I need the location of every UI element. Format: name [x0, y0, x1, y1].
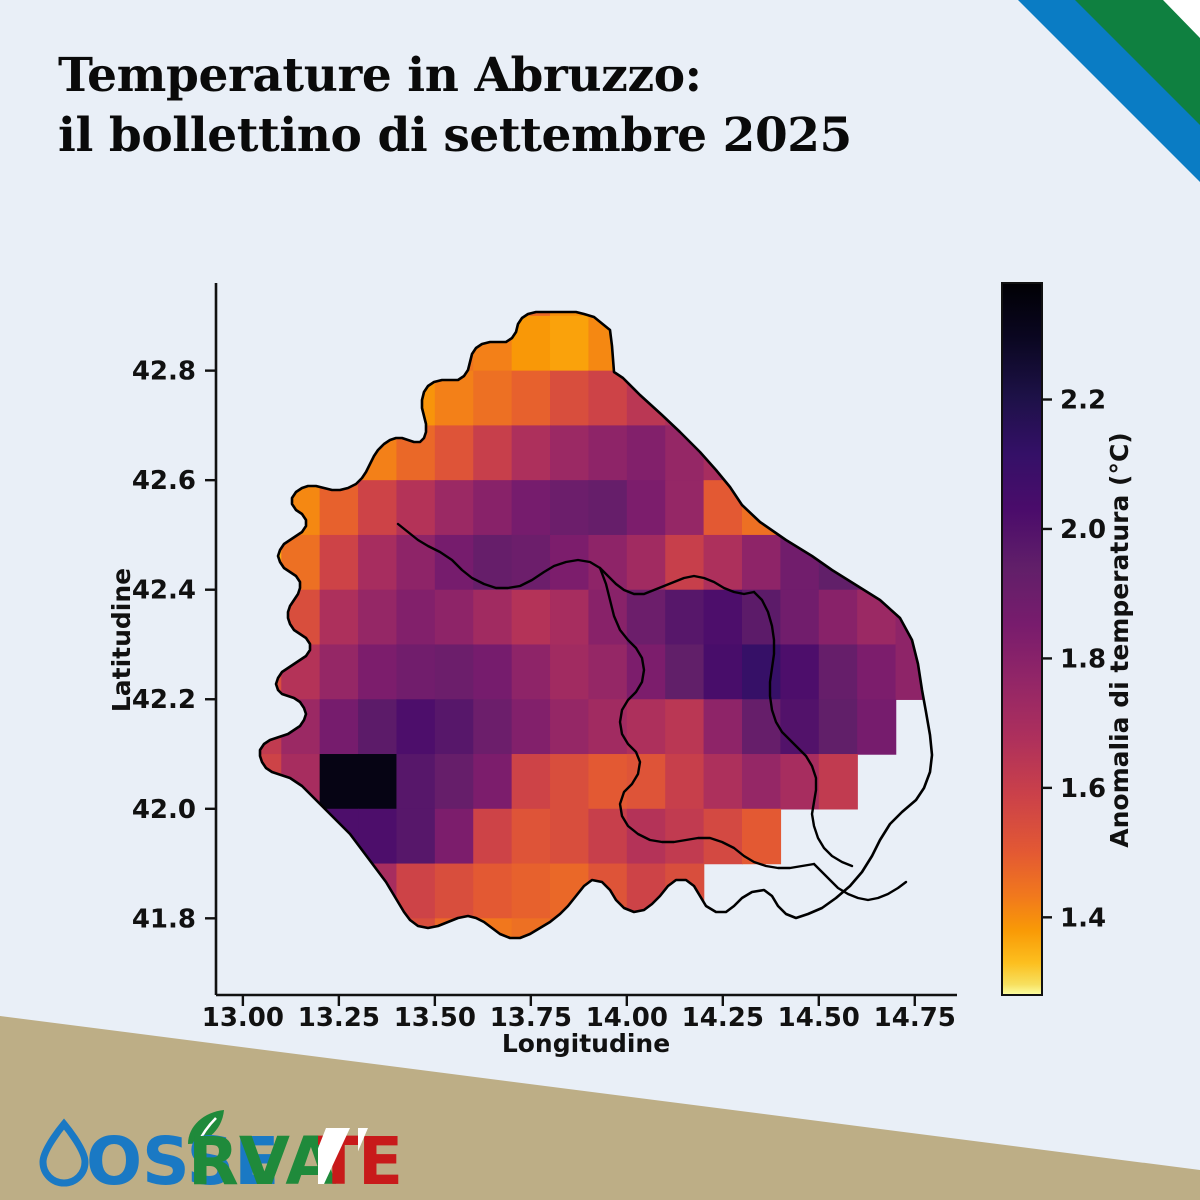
- heatmap-cell: [550, 425, 589, 480]
- heatmap-cell: [588, 644, 627, 699]
- heatmap-cell: [473, 590, 512, 645]
- heatmap-cell: [435, 480, 474, 535]
- heatmap-cell: [742, 535, 781, 590]
- heatmap-cell: [358, 644, 397, 699]
- heatmap-cell: [358, 699, 397, 754]
- heatmap-cell: [550, 809, 589, 864]
- heatmap-cell: [588, 425, 627, 480]
- heatmap-cell: [435, 644, 474, 699]
- heatmap-cell: [665, 590, 704, 645]
- heatmap-cell: [665, 754, 704, 809]
- heatmap-cell: [396, 809, 435, 864]
- x-axis-tick-label: 13.25: [298, 1003, 380, 1033]
- heatmap-cell: [512, 425, 551, 480]
- heatmap-cell: [320, 590, 359, 645]
- heatmap-cell: [819, 699, 858, 754]
- x-axis-title: Longitudine: [502, 1029, 670, 1058]
- heatmap-cell: [780, 644, 819, 699]
- heatmap-cell: [627, 535, 666, 590]
- x-axis-ticks-group: 13.0013.2513.5013.7514.0014.2514.5014.75: [202, 995, 956, 1033]
- heatmap-cell: [435, 699, 474, 754]
- heatmap-cell: [358, 590, 397, 645]
- heatmap-cell: [627, 644, 666, 699]
- heatmap-cell: [435, 590, 474, 645]
- heatmap-cell: [857, 699, 896, 754]
- heatmap-cell: [627, 480, 666, 535]
- x-axis-tick-label: 14.25: [682, 1003, 764, 1033]
- colorbar-tick-label: 1.4: [1060, 903, 1106, 933]
- y-axis-ticks-group: 41.842.042.242.442.642.8: [132, 357, 216, 935]
- heatmap-cell: [435, 754, 474, 809]
- y-axis-tick-label: 42.8: [132, 357, 196, 387]
- colorbar-title: Anomalia di temperatura (°C): [1105, 432, 1134, 847]
- heatmap-cell: [819, 754, 858, 809]
- heatmap-cell: [512, 644, 551, 699]
- heatmap-cell: [512, 864, 551, 919]
- heatmap-cell: [819, 590, 858, 645]
- y-axis-tick-label: 41.8: [132, 904, 196, 934]
- heatmap-cell: [512, 371, 551, 426]
- heatmap-cell: [396, 535, 435, 590]
- heatmap-cell: [473, 754, 512, 809]
- heatmap-cell: [819, 644, 858, 699]
- heatmap-cell: [320, 699, 359, 754]
- heatmap-cell: [550, 316, 589, 371]
- heatmap-cell: [588, 590, 627, 645]
- y-axis-tick-label: 42.6: [132, 466, 196, 496]
- x-axis-tick-label: 13.50: [394, 1003, 476, 1033]
- heatmap-cell: [704, 590, 743, 645]
- heatmap-cell: [550, 699, 589, 754]
- heatmap-cell: [435, 809, 474, 864]
- y-axis-tick-label: 42.2: [132, 685, 196, 715]
- heatmap-cell: [588, 371, 627, 426]
- heatmap-cell: [550, 371, 589, 426]
- heatmap-cell: [512, 480, 551, 535]
- heatmap-cell: [320, 644, 359, 699]
- heatmap-cell: [512, 699, 551, 754]
- heatmap-cell: [857, 644, 896, 699]
- heatmap-cell: [665, 480, 704, 535]
- heatmap-cell: [550, 480, 589, 535]
- logo-text-green: RVA: [188, 1123, 337, 1194]
- heatmap-cell: [512, 754, 551, 809]
- heatmap-cell: [473, 480, 512, 535]
- heatmap-cell: [396, 590, 435, 645]
- colorbar-ticks-group: 1.41.61.82.02.2: [1042, 386, 1106, 934]
- y-axis-title: Latitudine: [107, 568, 136, 712]
- heatmap-cell: [627, 590, 666, 645]
- heatmap-cell: [473, 425, 512, 480]
- heatmap-cell: [512, 535, 551, 590]
- heatmap-cell: [665, 644, 704, 699]
- x-axis-tick-label: 14.50: [778, 1003, 860, 1033]
- temperature-anomaly-map-chart: 13.0013.2513.5013.7514.0014.2514.5014.75…: [0, 0, 1200, 1200]
- heatmap-cell: [704, 809, 743, 864]
- heatmap-cell: [320, 754, 359, 809]
- heatmap-cell: [396, 644, 435, 699]
- x-axis-tick-label: 13.00: [202, 1003, 284, 1033]
- colorbar-tick-label: 2.0: [1060, 515, 1106, 545]
- osservate-logo-svg[interactable]: OSSE RVA T E OSSERVATE: [28, 1104, 428, 1194]
- heatmap-cell: [396, 754, 435, 809]
- heatmap-cell: [550, 644, 589, 699]
- heatmap-cell: [473, 864, 512, 919]
- heatmap-cell: [396, 699, 435, 754]
- colorbar-tick-label: 2.2: [1060, 386, 1106, 416]
- heatmap-cell: [704, 644, 743, 699]
- colorbar-gradient: [1002, 283, 1042, 995]
- y-axis-tick-label: 42.0: [132, 795, 196, 825]
- heatmap-cell: [473, 644, 512, 699]
- heatmap-cell: [742, 644, 781, 699]
- heatmap-cell: [588, 480, 627, 535]
- colorbar: 1.41.61.82.02.2 Anomalia di temperatura …: [1002, 283, 1134, 995]
- heatmap-cell: [780, 590, 819, 645]
- heatmap-cell: [742, 699, 781, 754]
- heatmap-cell: [512, 809, 551, 864]
- heatmap-cell: [704, 754, 743, 809]
- heatmap-cell: [435, 425, 474, 480]
- heatmap-cell: [742, 754, 781, 809]
- heatmap-cell: [473, 809, 512, 864]
- heatmap-cell: [627, 425, 666, 480]
- heatmap-cell: [780, 699, 819, 754]
- heatmap-cell: [358, 754, 397, 809]
- heatmap-cell: [742, 809, 781, 864]
- heatmap-cell: [473, 699, 512, 754]
- heatmap-cell: [435, 864, 474, 919]
- heatmap-cell: [550, 754, 589, 809]
- y-axis-tick-label: 42.4: [132, 576, 196, 606]
- heatmap-cell: [473, 371, 512, 426]
- water-drop-icon: [43, 1124, 85, 1183]
- heatmap-cell: [320, 535, 359, 590]
- heatmap-cell: [665, 699, 704, 754]
- heatmap-cell: [627, 809, 666, 864]
- heatmap-cell: [704, 699, 743, 754]
- heatmap-cell: [550, 535, 589, 590]
- heatmap-cell: [550, 590, 589, 645]
- heatmap-cell: [358, 480, 397, 535]
- x-axis-tick-label: 14.75: [874, 1003, 956, 1033]
- heatmap-cell: [512, 590, 551, 645]
- colorbar-tick-label: 1.8: [1060, 644, 1106, 674]
- heatmap-cell: [704, 535, 743, 590]
- osservate-logo[interactable]: OSSE RVA T E OSSERVATE: [28, 1104, 428, 1176]
- heatmap-cell: [358, 535, 397, 590]
- heatmap-cell: [588, 535, 627, 590]
- heatmap-cell: [665, 809, 704, 864]
- heatmap-cell: [627, 699, 666, 754]
- colorbar-tick-label: 1.6: [1060, 774, 1106, 804]
